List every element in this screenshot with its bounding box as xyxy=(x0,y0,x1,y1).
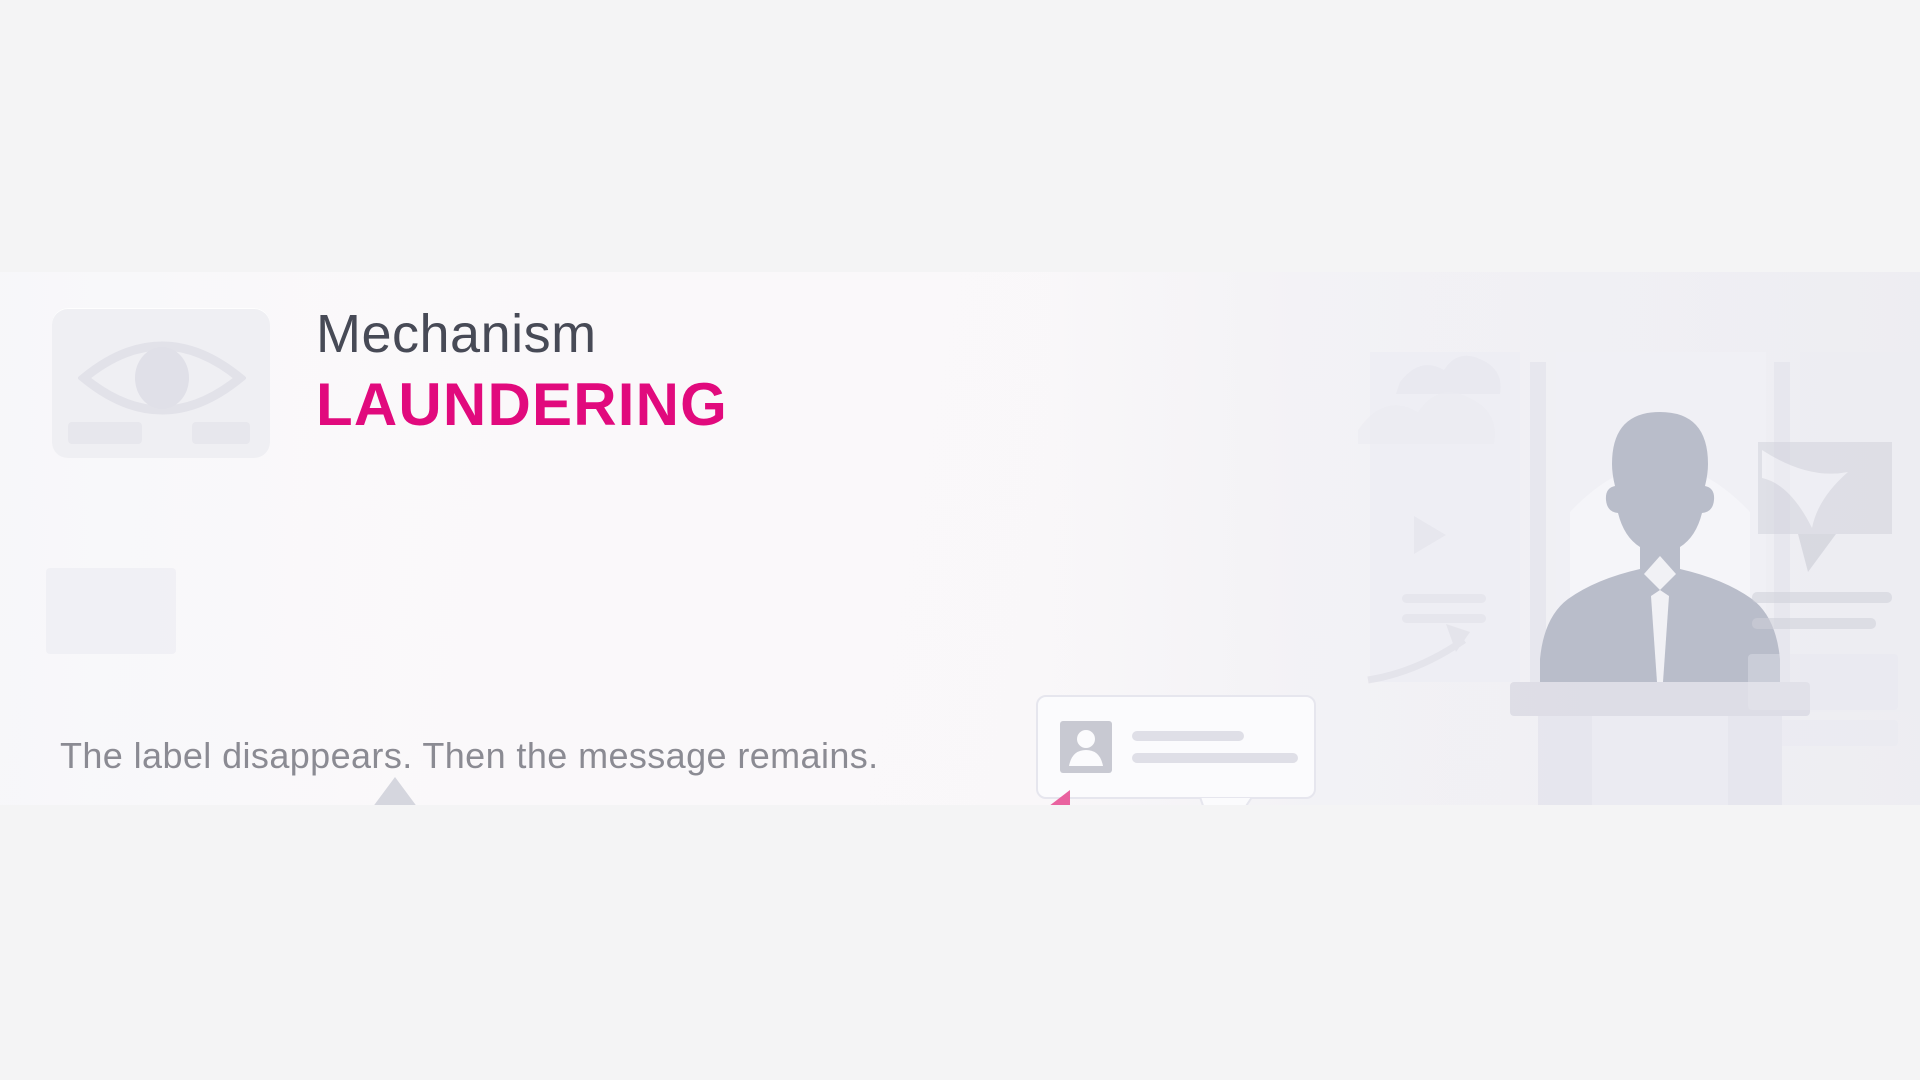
page-title-line2: LAUNDERING xyxy=(316,370,1036,439)
eye-tile xyxy=(52,308,270,458)
text-line xyxy=(1132,731,1244,741)
text-line xyxy=(1132,753,1298,763)
flag-bubble-icon xyxy=(1738,422,1920,752)
avatar-icon xyxy=(1060,721,1112,773)
page-title-line1: Mechanism xyxy=(316,304,1036,364)
post-card-accent xyxy=(1034,790,1074,805)
background-social-cluster xyxy=(1328,390,1558,690)
banner: Mechanism LAUNDERING $ Paid narrative xyxy=(0,272,1920,805)
eye-tile-strip-right xyxy=(192,422,250,444)
post-card[interactable] xyxy=(1036,695,1316,799)
post-card-tail xyxy=(1196,797,1266,805)
post-card-lines xyxy=(1132,731,1298,763)
background-shape-left xyxy=(46,568,176,654)
arrow-up-icon xyxy=(350,777,440,805)
page-root: Mechanism LAUNDERING $ Paid narrative xyxy=(0,0,1920,1080)
caption-text: The label disappears. Then the message r… xyxy=(60,735,879,777)
eye-icon xyxy=(78,330,246,426)
eye-tile-strip-left xyxy=(68,422,142,444)
heading-block: Mechanism LAUNDERING xyxy=(316,304,1036,439)
